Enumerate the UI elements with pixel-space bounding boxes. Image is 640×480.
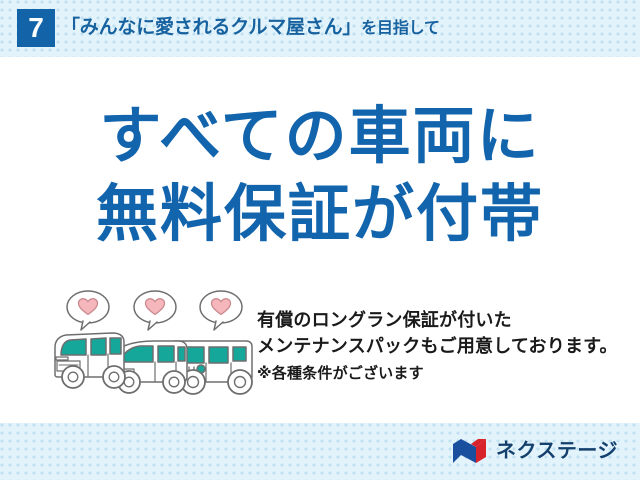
main-content: すべての車両に 無料保証が付帯 xyxy=(0,57,640,423)
nexstage-brand-text: ネクステージ xyxy=(496,441,618,461)
car-wagon-left xyxy=(55,333,125,388)
heart-bubble-2 xyxy=(134,291,176,330)
body-copy-note: ※各種条件がございます xyxy=(257,361,632,387)
heart-bubble-3 xyxy=(200,291,242,330)
header-band: 7 「みんなに愛されるクルマ屋さん」を目指して xyxy=(0,0,640,57)
header-tagline-suffix: を目指して xyxy=(361,20,440,37)
heart-bubble-1 xyxy=(67,291,109,330)
headline-line-2: 無料保証が付帯 xyxy=(0,184,640,246)
header-tagline: 「みんなに愛されるクルマ屋さん」を目指して xyxy=(61,13,440,43)
body-copy-line-1: 有償のロングラン保証が付いた xyxy=(257,307,632,333)
nexstage-n-mark xyxy=(452,438,488,464)
nexstage-logo: ネクステージ xyxy=(452,436,618,466)
footer-band: ネクステージ xyxy=(0,423,640,480)
three-cars-illustration xyxy=(50,289,265,401)
body-copy-line-2: メンテナンスパックもご用意しております。 xyxy=(257,333,632,359)
headline-line-1: すべての車両に xyxy=(0,106,640,168)
body-copy: 有償のロングラン保証が付いた メンテナンスパックもご用意しております。 ※各種条… xyxy=(257,307,632,387)
advertisement-banner: 7 「みんなに愛されるクルマ屋さん」を目指して すべての車両に 無料保証が付帯 xyxy=(0,0,640,480)
header-tagline-quoted: 「みんなに愛されるクルマ屋さん」 xyxy=(61,17,361,38)
section-number-badge: 7 xyxy=(17,9,55,47)
